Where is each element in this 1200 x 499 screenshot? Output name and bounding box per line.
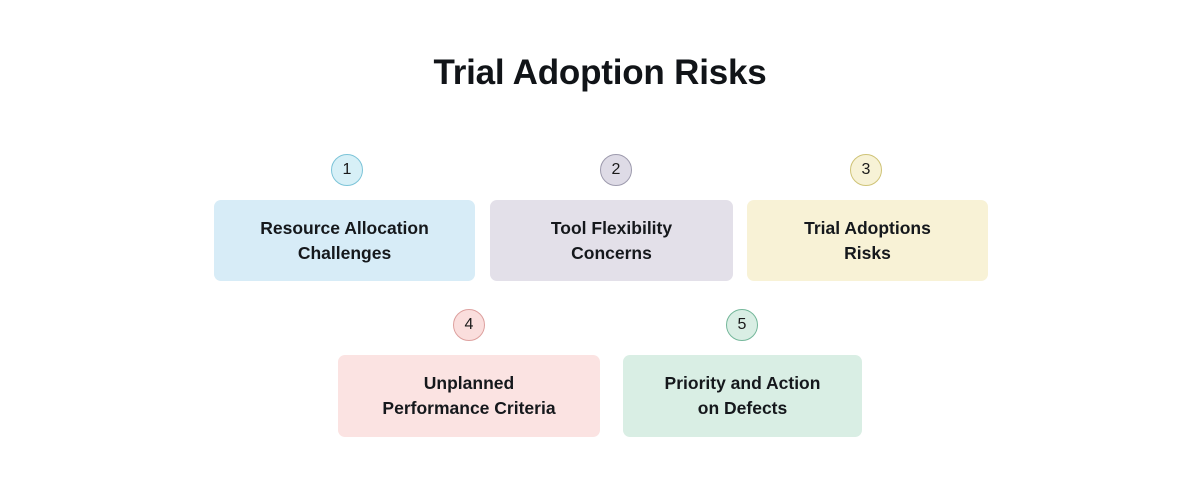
step-badge-1[interactable]: 1 — [331, 154, 363, 186]
card-2[interactable]: Tool Flexibility Concerns — [490, 200, 733, 281]
step-badge-5[interactable]: 5 — [726, 309, 758, 341]
card-label-2: Tool Flexibility Concerns — [551, 216, 672, 266]
card-1[interactable]: Resource Allocation Challenges — [214, 200, 475, 281]
card-4[interactable]: Unplanned Performance Criteria — [338, 355, 600, 437]
card-label-4: Unplanned Performance Criteria — [382, 371, 555, 421]
card-label-5: Priority and Action on Defects — [665, 371, 821, 421]
card-5[interactable]: Priority and Action on Defects — [623, 355, 862, 437]
step-badge-2[interactable]: 2 — [600, 154, 632, 186]
infographic-canvas: Trial Adoption Risks 1 Resource Allocati… — [0, 0, 1200, 499]
card-3[interactable]: Trial Adoptions Risks — [747, 200, 988, 281]
card-label-1: Resource Allocation Challenges — [260, 216, 429, 266]
step-badge-4[interactable]: 4 — [453, 309, 485, 341]
step-badge-3[interactable]: 3 — [850, 154, 882, 186]
page-title: Trial Adoption Risks — [0, 52, 1200, 94]
card-label-3: Trial Adoptions Risks — [804, 216, 931, 266]
